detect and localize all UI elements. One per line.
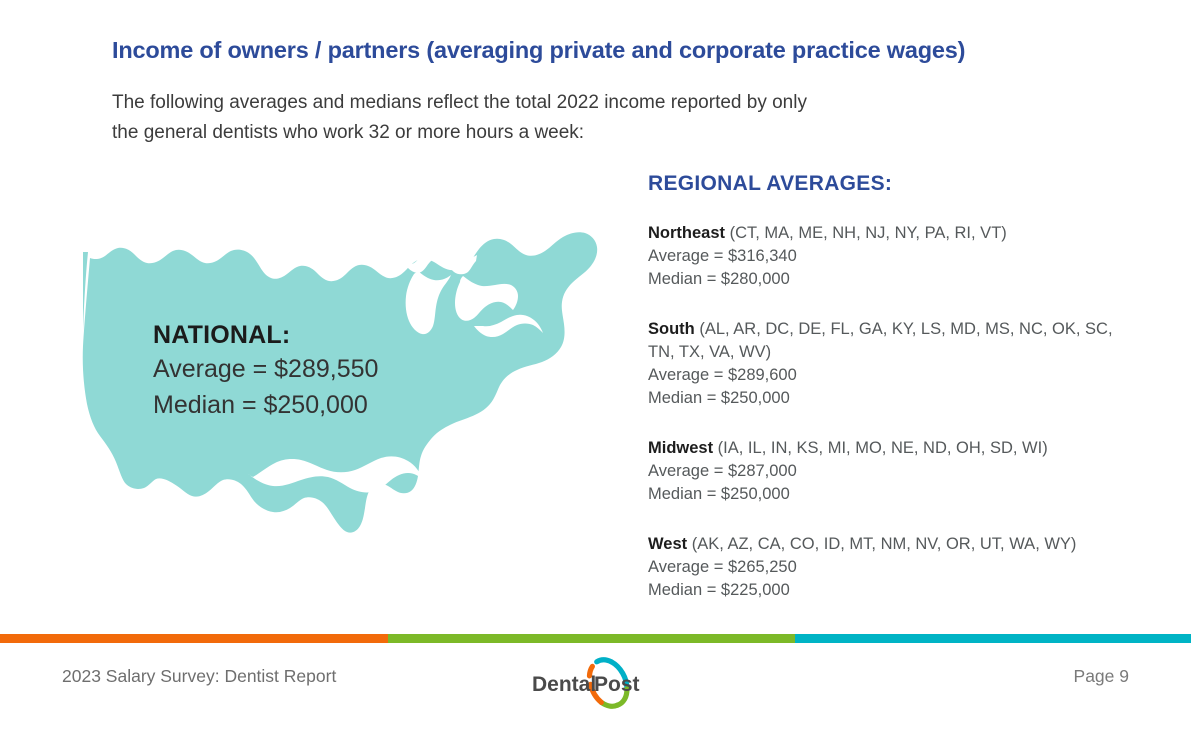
national-stats: NATIONAL: Average = $289,550 Median = $2… <box>153 320 483 423</box>
region-average-midwest: Average = $287,000 <box>648 460 1118 483</box>
region-block-west: West (AK, AZ, CA, CO, ID, MT, NM, NV, OR… <box>648 533 1118 602</box>
footer-bar-segment-orange <box>0 634 388 643</box>
national-average: Average = $289,550 <box>153 351 483 387</box>
region-block-northeast: Northeast (CT, MA, ME, NH, NJ, NY, PA, R… <box>648 222 1118 291</box>
footer-page-number: Page 9 <box>1074 666 1129 687</box>
region-average-northeast: Average = $316,340 <box>648 245 1118 268</box>
region-states-midwest: Midwest (IA, IL, IN, KS, MI, MO, NE, ND,… <box>648 437 1118 460</box>
region-block-south: South (AL, AR, DC, DE, FL, GA, KY, LS, M… <box>648 318 1118 410</box>
region-median-south: Median = $250,000 <box>648 387 1118 410</box>
region-average-west: Average = $265,250 <box>648 556 1118 579</box>
region-average-south: Average = $289,600 <box>648 364 1118 387</box>
intro-line-2: the general dentists who work 32 or more… <box>112 118 812 148</box>
dentalpost-logo-text-post: Post <box>594 673 640 696</box>
region-median-midwest: Median = $250,000 <box>648 483 1118 506</box>
footer-color-bar <box>0 634 1191 643</box>
region-name-south: South <box>648 320 695 338</box>
footer-bar-segment-teal <box>795 634 1191 643</box>
national-title: NATIONAL: <box>153 320 483 351</box>
dentalpost-logo-icon: Dental Post <box>530 655 660 717</box>
regional-averages-section: REGIONAL AVERAGES: Northeast (CT, MA, ME… <box>648 172 1118 602</box>
region-median-west: Median = $225,000 <box>648 579 1118 602</box>
region-state-list-west: (AK, AZ, CA, CO, ID, MT, NM, NV, OR, UT,… <box>687 535 1076 553</box>
dentalpost-logo-text: Dental <box>532 673 596 696</box>
region-state-list-northeast: (CT, MA, ME, NH, NJ, NY, PA, RI, VT) <box>725 224 1007 242</box>
region-states-west: West (AK, AZ, CA, CO, ID, MT, NM, NV, OR… <box>648 533 1118 556</box>
region-block-midwest: Midwest (IA, IL, IN, KS, MI, MO, NE, ND,… <box>648 437 1118 506</box>
region-name-midwest: Midwest <box>648 439 713 457</box>
region-states-south: South (AL, AR, DC, DE, FL, GA, KY, LS, M… <box>648 318 1118 364</box>
national-median: Median = $250,000 <box>153 387 483 423</box>
region-state-list-south: (AL, AR, DC, DE, FL, GA, KY, LS, MD, MS,… <box>648 320 1113 361</box>
intro-line-1: The following averages and medians refle… <box>112 88 812 118</box>
footer-bar-segment-green <box>388 634 795 643</box>
footer-report-label: 2023 Salary Survey: Dentist Report <box>62 666 336 687</box>
regional-averages-heading: REGIONAL AVERAGES: <box>648 172 1118 196</box>
region-name-west: West <box>648 535 687 553</box>
region-name-northeast: Northeast <box>648 224 725 242</box>
dentalpost-logo: Dental Post <box>530 655 660 717</box>
region-median-northeast: Median = $280,000 <box>648 268 1118 291</box>
region-states-northeast: Northeast (CT, MA, ME, NH, NJ, NY, PA, R… <box>648 222 1118 245</box>
region-state-list-midwest: (IA, IL, IN, KS, MI, MO, NE, ND, OH, SD,… <box>713 439 1048 457</box>
page-title: Income of owners / partners (averaging p… <box>112 36 1092 64</box>
intro-paragraph: The following averages and medians refle… <box>112 88 812 148</box>
